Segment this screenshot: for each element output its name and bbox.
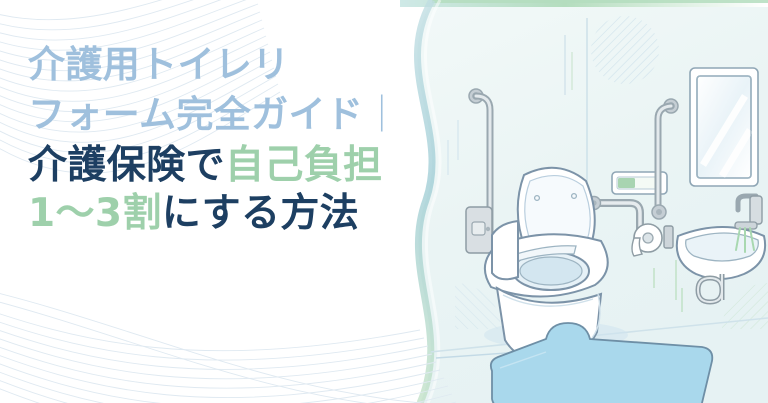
faucet: [735, 196, 762, 229]
headline-divider-bar: ｜: [363, 93, 400, 136]
wall-seams: [448, 18, 587, 210]
grab-bar-vertical-left: [469, 89, 490, 236]
headline-line-2: フォーム完全ガイド｜: [28, 96, 408, 133]
toilet-seat: [485, 234, 608, 296]
remote-panel-left: [466, 207, 492, 253]
headline-line-4: 1〜3割にする方法: [28, 194, 408, 233]
headline-line-4-accent: 1〜3割: [28, 191, 162, 236]
mirror: [690, 68, 758, 186]
hatched-circle-decoration: [591, 16, 659, 84]
floor-mat: [491, 323, 712, 403]
headline-line-3: 介護保険で自己負担: [28, 146, 408, 185]
sink-basin: [677, 227, 765, 279]
headline-line-3-text: 介護保険で: [28, 143, 225, 188]
headline-line-1: 介護用トイレリ: [28, 46, 408, 83]
drain-trap-highlight: [698, 274, 722, 302]
hatched-corner-decoration-right: [722, 283, 768, 329]
running-water: [736, 228, 754, 252]
water-accent-lines: [654, 260, 682, 312]
illustration-panel-background: [417, 0, 768, 403]
headline-line-2-text: フォーム完全ガイド: [28, 93, 363, 136]
wave-lines-bottom-left: [0, 284, 456, 403]
control-panel: [612, 172, 667, 194]
floor-line: [420, 318, 768, 358]
toilet-lid: [518, 168, 595, 254]
hatched-corner-decoration-left: [455, 283, 501, 329]
grab-bar-vertical-right: [652, 99, 678, 219]
headline-line-4-text: にする方法: [162, 191, 359, 236]
toilet-body: [492, 221, 601, 362]
top-gradient-bar: [400, 0, 768, 7]
drain-trap: [698, 274, 722, 302]
hero-banner: 介護用トイレリ フォーム完全ガイド｜ 介護保険で自己負担 1〜3割にする方法: [0, 0, 768, 403]
toilet: [484, 168, 628, 362]
headline-line-1-text: 介護用トイレリ: [28, 43, 290, 86]
headline-line-3-accent: 自己負担: [225, 143, 383, 188]
s-curve-divider: [417, 0, 440, 403]
grab-bar-l-shape-right: [588, 197, 641, 244]
headline-block: 介護用トイレリ フォーム完全ガイド｜ 介護保険で自己負担 1〜3割にする方法: [28, 46, 408, 233]
toilet-paper-holder: [632, 224, 673, 256]
